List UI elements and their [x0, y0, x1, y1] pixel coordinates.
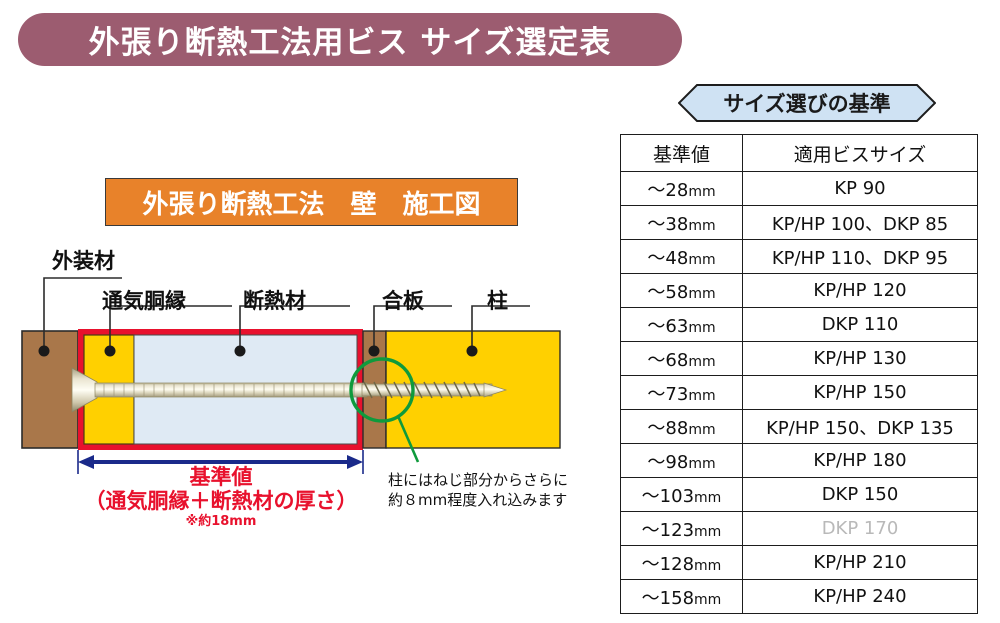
cell-size: DKP 150 [743, 478, 978, 512]
cell-size: KP 90 [743, 172, 978, 206]
cell-kijun: 〜73mm [621, 376, 743, 410]
label-hashira: 柱 [487, 285, 508, 315]
cell-size: KP/HP 100、DKP 85 [743, 206, 978, 240]
table-row: 〜158mmKP/HP 240 [621, 580, 978, 614]
cell-size: KP/HP 130 [743, 342, 978, 376]
label-gouban: 合板 [382, 285, 424, 315]
cell-kijun: 〜123mm [621, 512, 743, 546]
table-row: 〜103mmDKP 150 [621, 478, 978, 512]
cell-kijun: 〜38mm [621, 206, 743, 240]
cell-size: KP/HP 210 [743, 546, 978, 580]
table-row: 〜73mmKP/HP 150 [621, 376, 978, 410]
diagram-caption-label: 外張り断熱工法 壁 施工図 [142, 184, 480, 221]
cell-kijun: 〜158mm [621, 580, 743, 614]
screw-depth-note-line1: 柱にはねじ部分からさらに [388, 470, 568, 490]
label-dannetsuzai: 断熱材 [243, 285, 306, 315]
diagram-caption-box: 外張り断熱工法 壁 施工図 [105, 178, 518, 226]
layer-gaisozai [22, 331, 78, 448]
table-row: 〜28mmKP 90 [621, 172, 978, 206]
cell-kijun: 〜28mm [621, 172, 743, 206]
cell-size: DKP 110 [743, 308, 978, 342]
cell-size: KP/HP 150、DKP 135 [743, 410, 978, 444]
cell-kijun: 〜103mm [621, 478, 743, 512]
cell-size: KP/HP 110、DKP 95 [743, 240, 978, 274]
dimension-label-note: ※約18mm [62, 515, 380, 530]
table-row: 〜123mmDKP 170 [621, 512, 978, 546]
size-criteria-banner-label: サイズ選びの基準 [678, 84, 936, 122]
page-title: 外張り断熱工法用ビス サイズ選定表 [89, 17, 612, 62]
cell-size: KP/HP 180 [743, 444, 978, 478]
dimension-label-line2: （通気胴縁＋断熱材の厚さ） [62, 490, 380, 514]
size-selection-table: 基準値 適用ビスサイズ 〜28mmKP 90〜38mmKP/HP 100、DKP… [620, 134, 978, 614]
column-header-kijun: 基準値 [621, 135, 743, 172]
label-tsuki-doubuchi: 通気胴縁 [102, 285, 186, 315]
cell-kijun: 〜128mm [621, 546, 743, 580]
screw-depth-note-line2: 約８mm程度入れ込みます [388, 490, 568, 510]
cell-kijun: 〜88mm [621, 410, 743, 444]
table-row: 〜48mmKP/HP 110、DKP 95 [621, 240, 978, 274]
table-row: 〜63mmDKP 110 [621, 308, 978, 342]
table-header-row: 基準値 適用ビスサイズ [621, 135, 978, 172]
table-body: 〜28mmKP 90〜38mmKP/HP 100、DKP 85〜48mmKP/H… [621, 172, 978, 614]
cell-kijun: 〜68mm [621, 342, 743, 376]
table-row: 〜58mmKP/HP 120 [621, 274, 978, 308]
label-gaisozai: 外装材 [52, 245, 115, 275]
table-row: 〜128mmKP/HP 210 [621, 546, 978, 580]
cell-kijun: 〜48mm [621, 240, 743, 274]
dimension-label-line1: 基準値 [62, 466, 380, 490]
cell-kijun: 〜58mm [621, 274, 743, 308]
cell-size: KP/HP 120 [743, 274, 978, 308]
cell-kijun: 〜63mm [621, 308, 743, 342]
screw-depth-note: 柱にはねじ部分からさらに 約８mm程度入れ込みます [388, 470, 568, 511]
table-row: 〜38mmKP/HP 100、DKP 85 [621, 206, 978, 240]
dimension-label-group: 基準値 （通気胴縁＋断熱材の厚さ） ※約18mm [62, 466, 380, 530]
cell-size: KP/HP 240 [743, 580, 978, 614]
table-row: 〜98mmKP/HP 180 [621, 444, 978, 478]
size-criteria-banner: サイズ選びの基準 [678, 84, 936, 122]
cell-kijun: 〜98mm [621, 444, 743, 478]
table-row: 〜88mmKP/HP 150、DKP 135 [621, 410, 978, 444]
cell-size: DKP 170 [743, 512, 978, 546]
cell-size: KP/HP 150 [743, 376, 978, 410]
page-title-banner: 外張り断熱工法用ビス サイズ選定表 [18, 13, 682, 66]
table-row: 〜68mmKP/HP 130 [621, 342, 978, 376]
column-header-size: 適用ビスサイズ [743, 135, 978, 172]
